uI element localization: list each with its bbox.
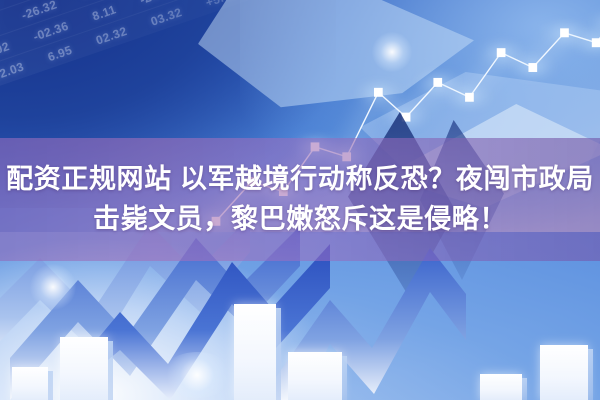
headline-line-2: 击毙文员，黎巴嫩怒斥这是侵略！ bbox=[93, 202, 507, 238]
sparkle-3 bbox=[372, 32, 412, 72]
bar-column bbox=[60, 337, 108, 400]
bar-column bbox=[12, 367, 48, 400]
headline-line-1: 配资正规网站 以军越境行动称反恐？夜闯市政局 bbox=[6, 162, 594, 198]
bar-column bbox=[540, 345, 588, 400]
chart-node bbox=[592, 38, 600, 47]
ticker-value: 03.32 bbox=[149, 5, 184, 29]
chart-node bbox=[465, 93, 474, 102]
ticker-value: 02.03 bbox=[0, 59, 26, 83]
chart-node bbox=[528, 63, 537, 72]
chart-node bbox=[374, 88, 383, 97]
ticker-value: 02.32 bbox=[94, 23, 129, 47]
headline-band: 配资正规网站 以军越境行动称反恐？夜闯市政局 击毙文员，黎巴嫩怒斥这是侵略！ bbox=[0, 138, 600, 261]
news-banner: -03.35-11.25+5.02-02.3645.0221.05-50.024… bbox=[0, 0, 600, 400]
chart-node bbox=[497, 48, 506, 57]
bar-column bbox=[234, 304, 276, 400]
sparkle-1 bbox=[30, 264, 76, 310]
ticker-value: 8.11 bbox=[90, 2, 118, 23]
chart-node bbox=[560, 28, 569, 37]
ticker-value: 6.95 bbox=[46, 42, 74, 63]
bar-column bbox=[480, 374, 522, 400]
chart-node bbox=[433, 78, 442, 87]
bar-column bbox=[288, 352, 342, 400]
sparkle-2 bbox=[162, 352, 232, 398]
